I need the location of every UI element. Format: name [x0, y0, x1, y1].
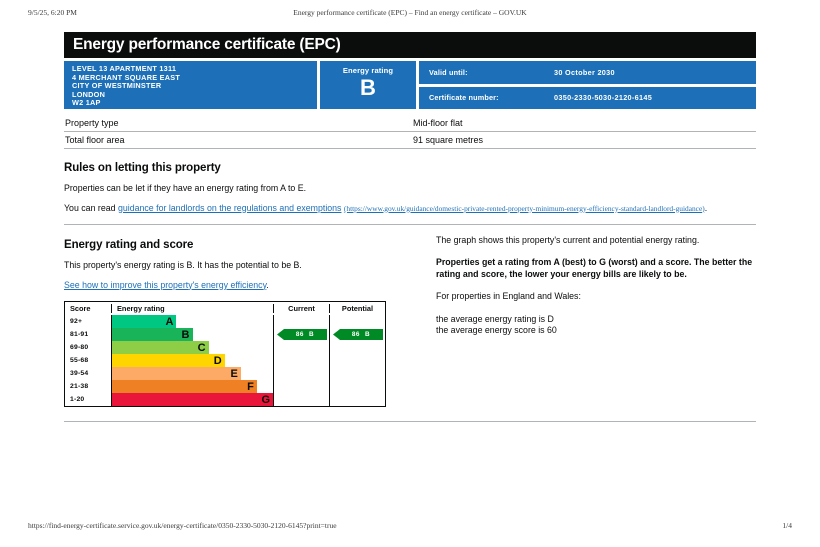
potential-score: 86: [352, 331, 360, 338]
letting-read-prefix: You can read: [64, 203, 118, 213]
epc-band-bar-wrap-b: B: [111, 328, 273, 341]
epc-header-potential: Potential: [329, 304, 385, 313]
valid-until-label: Valid until:: [429, 68, 554, 77]
epc-band-bar-g: G: [112, 393, 273, 406]
epc-rating-graph: Score Energy rating Current Potential 92…: [64, 301, 386, 407]
certificate-number-label: Certificate number:: [429, 93, 554, 102]
epc-band-score-g: 1-20: [65, 393, 111, 406]
epc-band-score-a: 92+: [65, 315, 111, 328]
print-url[interactable]: https://find-energy-certificate.service.…: [28, 521, 337, 530]
epc-band-bar-wrap-c: C: [111, 341, 273, 354]
epc-band-score-d: 55-68: [65, 354, 111, 367]
letting-rules-heading: Rules on letting this property: [64, 162, 756, 174]
property-address: LEVEL 13 APARTMENT 1311 4 MERCHANT SQUAR…: [64, 61, 317, 109]
epc-potential-column: 86 B: [329, 315, 385, 406]
improve-efficiency-link[interactable]: See how to improve this property's energ…: [64, 280, 266, 290]
address-line-4: LONDON: [72, 91, 317, 100]
print-page-title: Energy performance certificate (EPC) – F…: [0, 8, 820, 17]
epc-band-row-f: 21-38F: [65, 380, 273, 393]
graph-explanation-1: The graph shows this property's current …: [436, 235, 756, 246]
property-type-value: Mid-floor flat: [413, 118, 756, 128]
epc-band-row-g: 1-20G: [65, 393, 273, 406]
section-divider: [64, 224, 756, 225]
epc-band-score-f: 21-38: [65, 380, 111, 393]
average-rating-text: the average energy rating is D: [436, 314, 756, 325]
epc-band-score-e: 39-54: [65, 367, 111, 380]
epc-band-bar-wrap-e: E: [111, 367, 273, 380]
epc-band-bar-wrap-f: F: [111, 380, 273, 393]
epc-band-bar-wrap-g: G: [111, 393, 273, 406]
potential-arrow-shape: 86 B: [333, 329, 383, 340]
epc-band-bar-a: A: [112, 315, 176, 328]
graph-explanation-2: Properties get a rating from A (best) to…: [436, 257, 756, 280]
epc-graph-body: 92+A81-91B69-80C55-68D39-54E21-38F1-20G …: [65, 315, 385, 406]
certificate-number-value: 0350-2330-5030-2120-6145: [554, 93, 652, 102]
epc-result-columns: 86 B 86 B: [273, 315, 385, 406]
graph-explanation-3: For properties in England and Wales:: [436, 291, 756, 302]
epc-band-list: 92+A81-91B69-80C55-68D39-54E21-38F1-20G: [65, 315, 273, 406]
address-line-3: CITY OF WESTMINSTER: [72, 82, 317, 91]
certificate-number-row: Certificate number: 0350-2330-5030-2120-…: [419, 87, 756, 110]
epc-graph-header: Score Energy rating Current Potential: [65, 302, 385, 315]
table-row: Total floor area 91 square metres: [64, 132, 756, 149]
print-page-number: 1/4: [782, 521, 792, 530]
letting-trailing: .: [705, 203, 707, 213]
epc-band-row-e: 39-54E: [65, 367, 273, 380]
print-footer: https://find-energy-certificate.service.…: [0, 521, 820, 535]
epc-header-current: Current: [273, 304, 329, 313]
epc-band-row-d: 55-68D: [65, 354, 273, 367]
landlord-guidance-link[interactable]: guidance for landlords on the regulation…: [118, 203, 342, 213]
rating-and-score-section: Energy rating and score This property's …: [64, 235, 756, 407]
epc-band-bar-wrap-d: D: [111, 354, 273, 367]
print-header: 9/5/25, 6:20 PM Energy performance certi…: [0, 8, 820, 22]
improve-efficiency-paragraph: See how to improve this property's energ…: [64, 280, 332, 292]
bottom-divider: [64, 421, 756, 422]
rating-section-heading: Energy rating and score: [64, 239, 424, 251]
epc-band-score-c: 69-80: [65, 341, 111, 354]
epc-header-rating: Energy rating: [111, 304, 273, 313]
epc-band-bar-c: C: [112, 341, 209, 354]
address-line-5: W2 1AP: [72, 99, 317, 108]
epc-band-bar-wrap-a: A: [111, 315, 273, 328]
epc-band-score-b: 81-91: [65, 328, 111, 341]
energy-rating-badge: Energy rating B: [320, 61, 416, 109]
potential-rating-arrow: 86 B: [333, 329, 383, 340]
rating-summary-text: This property's energy rating is B. It h…: [64, 260, 342, 272]
valid-until-row: Valid until: 30 October 2030: [419, 61, 756, 84]
epc-band-row-c: 69-80C: [65, 341, 273, 354]
epc-document: Energy performance certificate (EPC) LEV…: [64, 32, 756, 422]
letting-guidance-paragraph: You can read guidance for landlords on t…: [64, 203, 756, 215]
average-score-text: the average energy score is 60: [436, 325, 756, 336]
energy-rating-letter: B: [360, 76, 376, 100]
epc-current-column: 86 B: [273, 315, 329, 406]
certificate-title-bar: Energy performance certificate (EPC): [64, 32, 756, 58]
current-score: 86: [296, 331, 304, 338]
energy-rating-label: Energy rating: [343, 66, 393, 75]
epc-band-bar-e: E: [112, 367, 241, 380]
property-type-label: Property type: [65, 118, 413, 128]
current-arrow-shape: 86 B: [277, 329, 327, 340]
letting-rules-paragraph: Properties can be let if they have an en…: [64, 183, 756, 195]
epc-band-row-a: 92+A: [65, 315, 273, 328]
floor-area-value: 91 square metres: [413, 135, 756, 145]
page-title: Energy performance certificate (EPC): [73, 36, 341, 54]
epc-band-bar-d: D: [112, 354, 225, 367]
epc-band-bar-f: F: [112, 380, 257, 393]
potential-band: B: [365, 331, 370, 338]
valid-until-value: 30 October 2030: [554, 68, 615, 77]
current-band: B: [309, 331, 314, 338]
epc-band-row-b: 81-91B: [65, 328, 273, 341]
landlord-guidance-url[interactable]: (https://www.gov.uk/guidance/domestic-pr…: [344, 204, 705, 213]
table-row: Property type Mid-floor flat: [64, 115, 756, 132]
rating-left-column: Energy rating and score This property's …: [64, 235, 424, 407]
certificate-summary: LEVEL 13 APARTMENT 1311 4 MERCHANT SQUAR…: [64, 61, 756, 109]
improve-trailing: .: [266, 280, 268, 290]
epc-band-bar-b: B: [112, 328, 193, 341]
property-details-table: Property type Mid-floor flat Total floor…: [64, 115, 756, 149]
floor-area-label: Total floor area: [65, 135, 413, 145]
current-rating-arrow: 86 B: [277, 329, 327, 340]
epc-header-score: Score: [65, 304, 111, 313]
certificate-meta: Valid until: 30 October 2030 Certificate…: [419, 61, 756, 109]
rating-right-column: The graph shows this property's current …: [436, 235, 756, 407]
